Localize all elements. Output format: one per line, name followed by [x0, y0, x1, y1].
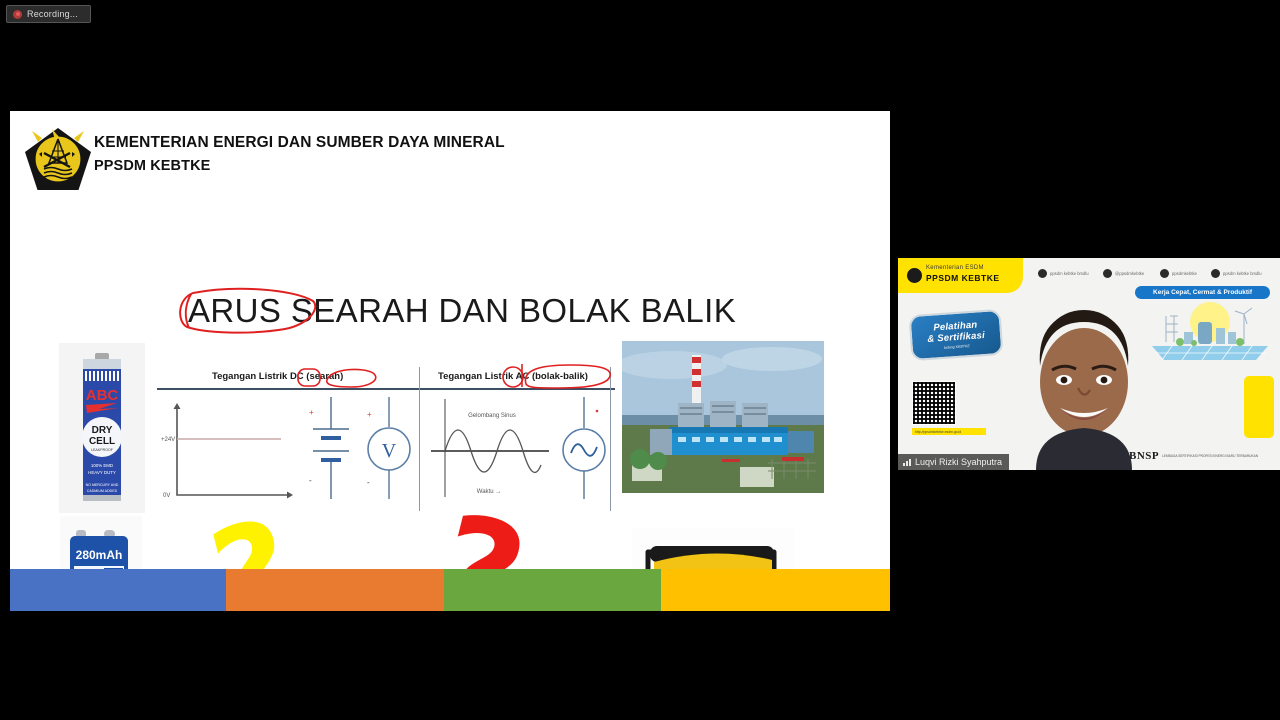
svg-text:V: V	[382, 440, 397, 462]
svg-text:+: +	[309, 408, 314, 417]
svg-text:280mAh: 280mAh	[76, 548, 123, 562]
ac-sine-graph: Gelombang Sinus Waktu →	[427, 395, 557, 505]
organization-title: KEMENTERIAN ENERGI DAN SUMBER DAYA MINER…	[94, 131, 505, 177]
social-handle: ppsdm kebtke bmdlu	[1223, 271, 1262, 276]
org-line-unit: PPSDM KEBTKE	[94, 155, 505, 177]
svg-text:0V: 0V	[163, 493, 170, 499]
participant-webcam-image	[1010, 296, 1158, 470]
webcam-brand-unit: PPSDM KEBTKE	[926, 273, 1000, 284]
social-handle: ppsdm kebtke bmdlu	[1050, 271, 1089, 276]
red-circle-annotation-searah	[321, 366, 391, 390]
red-circle-annotation-bolak-balik	[520, 362, 616, 392]
participant-video-tile[interactable]: Kementerian ESDM PPSDM KEBTKE ppsdm kebt…	[898, 258, 1280, 470]
social-twitter: @ppsdmkebtke	[1103, 269, 1144, 278]
instagram-icon	[1160, 269, 1169, 278]
qr-code-url: http://ppsdmkebtke.esdm.go.id	[912, 428, 986, 435]
social-handle: ppsdmkebtke	[1172, 271, 1197, 276]
bar-yellow	[661, 569, 890, 611]
svg-text:+24V: +24V	[161, 437, 175, 443]
ac-source-symbol	[557, 395, 611, 505]
bnsp-sublabel: LEMBAGA SERTIFIKASI PROFESI ENERGI BARU …	[1162, 454, 1258, 458]
qr-code-icon	[912, 381, 956, 425]
coal-power-plant-photo	[622, 341, 824, 493]
svg-text:DRY: DRY	[92, 425, 113, 436]
bar-blue	[10, 569, 226, 611]
svg-text:CELL: CELL	[89, 436, 115, 447]
facebook-icon	[1038, 269, 1047, 278]
record-dot-icon	[13, 10, 22, 19]
social-instagram: ppsdmkebtke	[1160, 269, 1197, 278]
svg-text:LEAKPROOF: LEAKPROOF	[91, 448, 114, 452]
webcam-brand-ministry: Kementerian ESDM	[926, 265, 1000, 273]
renewable-energy-illustration	[1144, 302, 1276, 364]
svg-text:-: -	[367, 478, 370, 487]
social-youtube: ppsdm kebtke bmdlu	[1211, 269, 1262, 278]
svg-text:100% EMD: 100% EMD	[91, 463, 113, 468]
diagram-divider	[419, 367, 420, 511]
svg-text:-: -	[309, 476, 312, 485]
slide-title: ARUS SEARAH DAN BOLAK BALIK	[188, 292, 736, 330]
bar-green	[444, 569, 661, 611]
recording-indicator: Recording...	[6, 5, 91, 23]
social-handle: @ppsdmkebtke	[1115, 271, 1144, 276]
dc-voltage-graph: +24V 0V	[159, 395, 299, 505]
svg-text:CADMIUM ADDED: CADMIUM ADDED	[87, 489, 118, 493]
twitter-icon	[1103, 269, 1112, 278]
voltage-comparison-diagram: Tegangan Listrik DC (searah) Tegangan Li…	[155, 367, 617, 511]
certification-side-card	[1244, 376, 1274, 438]
recording-label: Recording...	[27, 9, 78, 19]
svg-text:HEAVY DUTY: HEAVY DUTY	[88, 470, 116, 475]
participant-name: Luqvi Rizki Syahputra	[915, 457, 1002, 467]
svg-text:NO MERCURY AND: NO MERCURY AND	[86, 483, 119, 487]
badge-line-3: bidang KEBTKE	[944, 344, 970, 350]
voltmeter-symbol: V + -	[361, 395, 417, 505]
presentation-slide[interactable]: KEMENTERIAN ENERGI DAN SUMBER DAYA MINER…	[10, 111, 890, 611]
signal-bars-icon	[903, 458, 911, 466]
youtube-icon	[1211, 269, 1220, 278]
dc-battery-symbol: + -	[303, 395, 359, 505]
social-facebook: ppsdm kebtke bmdlu	[1038, 269, 1089, 278]
org-line-ministry: KEMENTERIAN ENERGI DAN SUMBER DAYA MINER…	[94, 131, 505, 155]
pelatihan-sertifikasi-badge: Pelatihan & Sertifikasi bidang KEBTKE	[909, 309, 1004, 361]
slide-header: KEMENTERIAN ENERGI DAN SUMBER DAYA MINER…	[10, 111, 890, 183]
svg-text:Gelombang Sinus: Gelombang Sinus	[468, 413, 516, 419]
bar-orange	[226, 569, 444, 611]
abc-dry-cell-battery: ABC DRY CELL LEAKPROOF 100% EMD HEAVY DU…	[59, 343, 145, 513]
participant-nameplate: Luqvi Rizki Syahputra	[898, 454, 1009, 470]
svg-text:ABC: ABC	[86, 387, 119, 404]
webcam-brand-text: Kementerian ESDM PPSDM KEBTKE	[926, 265, 1000, 283]
slide-footer-color-bars	[10, 569, 890, 611]
svg-text:+: +	[367, 410, 372, 419]
esdm-emblem-logo	[22, 125, 94, 193]
esdm-small-logo-icon	[907, 268, 922, 283]
